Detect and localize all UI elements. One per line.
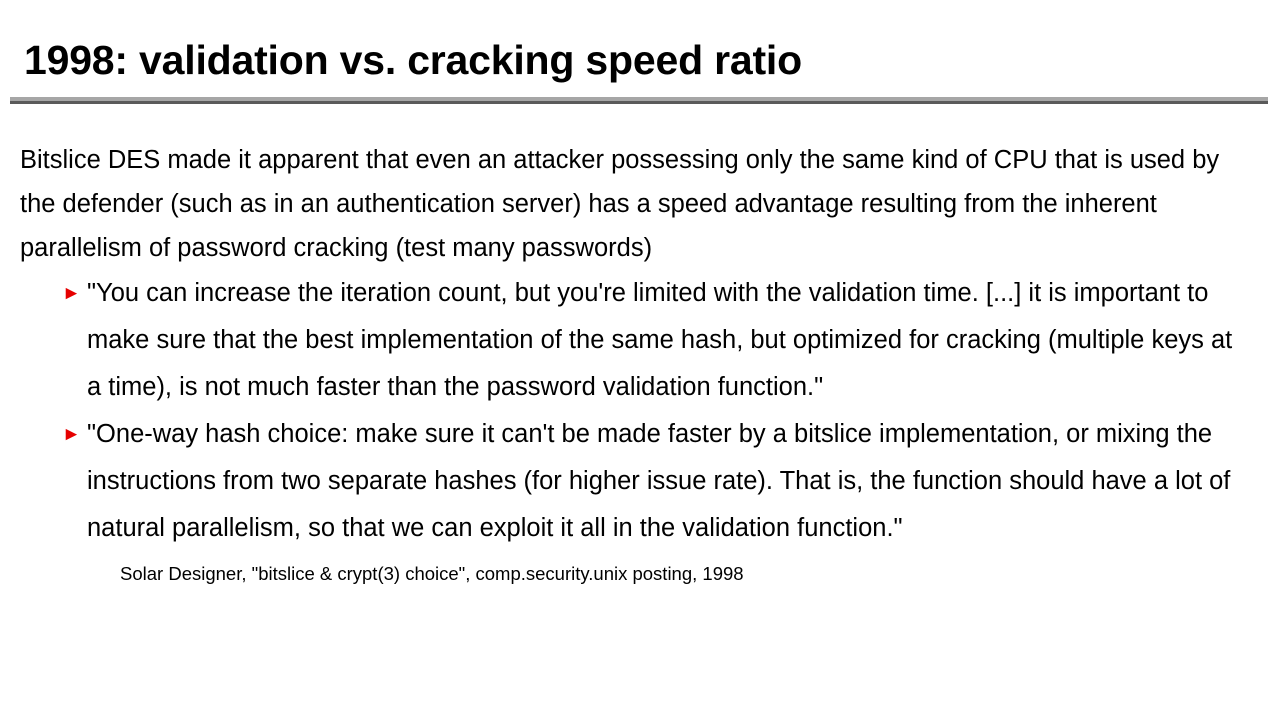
title-block: 1998: validation vs. cracking speed rati… [0, 34, 1280, 86]
page-title: 1998: validation vs. cracking speed rati… [0, 34, 1280, 86]
title-divider [10, 97, 1268, 104]
triangle-bullet-icon: ► [62, 411, 80, 458]
bullet-list: ► "You can increase the iteration count,… [0, 270, 1280, 552]
triangle-bullet-icon: ► [62, 270, 80, 317]
list-item-text: "One-way hash choice: make sure it can't… [87, 420, 1230, 542]
list-item-text: "You can increase the iteration count, b… [87, 279, 1232, 401]
list-item: ► "You can increase the iteration count,… [0, 270, 1280, 411]
intro-paragraph: Bitslice DES made it apparent that even … [0, 138, 1280, 270]
source-attribution: Solar Designer, "bitslice & crypt(3) cho… [0, 552, 1280, 587]
title-divider-bottom [10, 101, 1268, 104]
slide-body: Bitslice DES made it apparent that even … [0, 138, 1280, 587]
list-item: ► "One-way hash choice: make sure it can… [0, 411, 1280, 552]
slide-canvas: 1998: validation vs. cracking speed rati… [0, 0, 1280, 720]
